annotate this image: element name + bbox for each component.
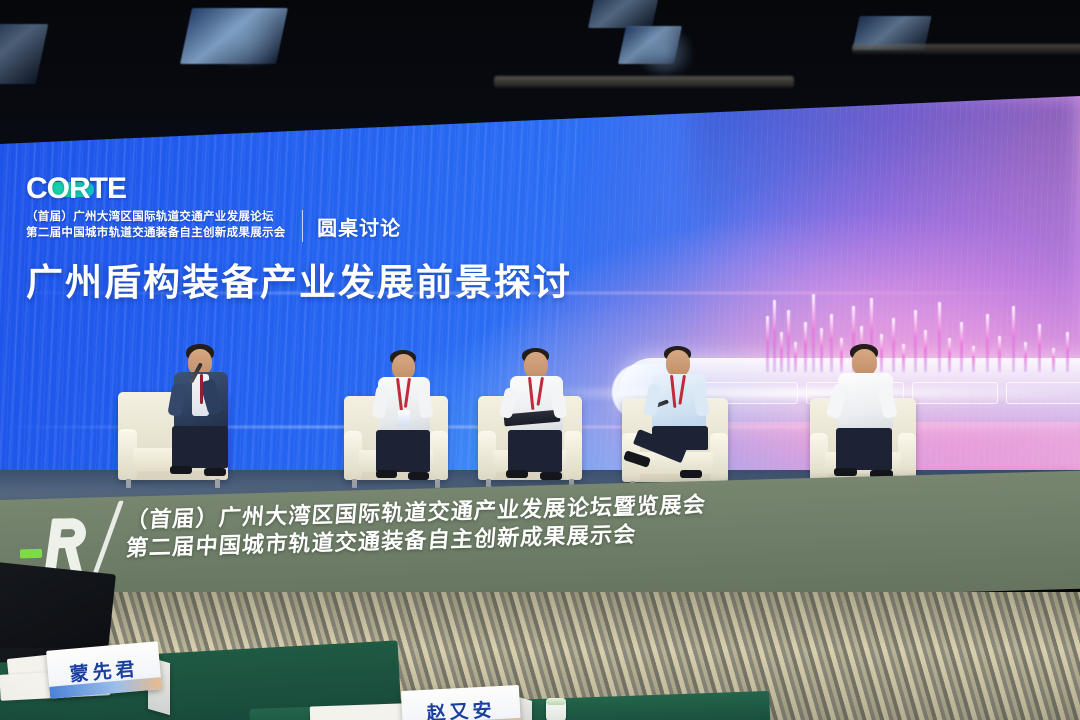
panelist-shoe	[376, 470, 397, 478]
chair-leg	[352, 479, 357, 488]
ceiling-truss-bar	[494, 76, 794, 88]
panelist-shoe	[408, 472, 429, 480]
panelist-3	[500, 348, 586, 482]
lanyard	[200, 374, 203, 404]
ceiling-light-panel	[0, 24, 48, 84]
screen-subtitle-line-1: （首届）广州大湾区国际轨道交通产业发展论坛	[26, 210, 286, 226]
nameplate-2-text: 赵又安	[426, 695, 496, 720]
panelist-2	[368, 350, 454, 482]
screen-subtitle-lines: （首届）广州大湾区国际轨道交通产业发展论坛 第二届中国城市轨道交通装备自主创新成…	[26, 210, 286, 241]
panelist-4	[640, 346, 732, 482]
panelist-legs	[508, 430, 562, 472]
screen-subtitle-line-2: 第二届中国城市轨道交通装备自主创新成果展示会	[26, 226, 286, 242]
banner-text-lines: （首届）广州大湾区国际轨道交通产业发展论坛暨览展会 第二届中国城市轨道交通装备自…	[126, 491, 706, 563]
panelist-shoe	[170, 466, 192, 474]
nameplate-1: 蒙先君	[46, 641, 162, 699]
panelist-shoe	[540, 472, 562, 480]
banner-slash-divider	[89, 501, 124, 584]
panelist-shoe	[834, 468, 857, 476]
panelist-head	[852, 349, 877, 376]
screen-text-block: CORTE （首届）广州大湾区国际轨道交通产业发展论坛 第二届中国城市轨道交通装…	[26, 170, 646, 306]
chair-leg	[126, 479, 131, 488]
screen-subtitle-block: （首届）广州大湾区国际轨道交通产业发展论坛 第二届中国城市轨道交通装备自主创新成…	[26, 210, 646, 242]
r-logo-green-accent	[20, 549, 42, 559]
chair-leg	[215, 479, 220, 488]
ceiling-glow	[630, 30, 700, 74]
panelist-legs	[376, 430, 430, 472]
ceiling-light-panel	[588, 0, 660, 28]
panelist-shoe	[506, 470, 528, 478]
cup-lid	[546, 698, 566, 705]
corte-logo: CORTE	[26, 170, 646, 204]
screen-section-badge: 圆桌讨论	[317, 212, 401, 241]
panelist-shoe	[204, 468, 226, 476]
panelist-5	[828, 344, 918, 482]
screen-main-title: 广州盾构装备产业发展前景探讨	[26, 252, 646, 306]
panelist-head	[524, 352, 548, 379]
ceiling-glow	[200, 16, 290, 66]
badge-card	[398, 410, 410, 426]
panelist-head	[666, 350, 690, 377]
panelist-1	[160, 344, 250, 480]
panelist-shoe	[680, 470, 702, 478]
conference-photo-scene: CORTE （首届）广州大湾区国际轨道交通产业发展论坛 第二届中国城市轨道交通装…	[0, 0, 1080, 720]
panelist-legs	[836, 428, 892, 470]
panelist-legs	[172, 426, 228, 468]
screen-divider	[302, 210, 304, 242]
nameplate-2: 赵又安	[401, 685, 521, 720]
corte-logo-mark: CORTE	[26, 174, 126, 204]
corte-logo-text: CORTE	[26, 172, 126, 205]
ceiling-truss-bar	[852, 44, 1080, 54]
